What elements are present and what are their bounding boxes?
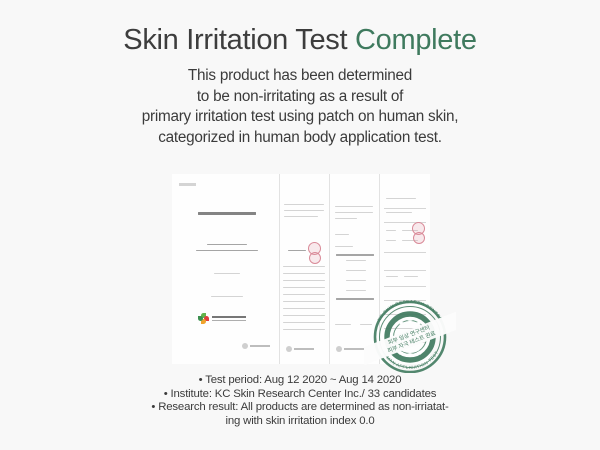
page-2-footer-logo [286,346,314,352]
bullet-item: • Test period: Aug 12 2020 ~ Aug 14 2020 [0,374,600,388]
page-3-date-4 [346,290,366,291]
page-1-date-line [211,296,243,297]
page-1-korean-title [198,212,256,215]
page-title-main: Skin Irritation Test [123,24,355,56]
institute-logo-text [212,316,246,322]
page-1-corner-mark [179,183,196,186]
intro-line-2: to be non-irritating as a result of [0,87,600,108]
page-title-accent: Complete [355,24,477,56]
page-1-subtitle-line-2 [196,250,258,251]
report-scan-images [172,174,430,364]
page-3-date-3 [346,280,366,281]
page-1-requester-line [214,273,240,274]
red-seal-stamp [309,252,321,264]
page-1-subtitle-line-1 [207,244,247,245]
page-3-date-1 [346,260,366,261]
page-3-date-2 [346,270,366,271]
bullet-text: Institute: KC Skin Research Center Inc./… [171,388,437,400]
bullet-item: • Research result: All products are dete… [0,401,600,415]
intro-line-4: categorized in human body application te… [0,128,600,149]
report-page-1 [172,174,280,364]
bullet-text: Research result: All products are determ… [158,401,448,413]
intro-paragraph: This product has been determined to be n… [0,66,600,148]
bullet-text: Test period: Aug 12 2020 ~ Aug 14 2020 [205,374,401,386]
page-title: Skin Irritation Test Complete [0,24,600,57]
bullet-marker: • [199,374,203,386]
bullet-marker: • [164,388,168,400]
pinwheel-logo-icon [198,313,209,324]
report-page-3 [330,174,380,364]
bullet-text-continuation: ing with skin irritation index 0.0 [0,415,600,429]
bullet-item: • Institute: KC Skin Research Center Inc… [0,388,600,402]
report-page-4 [380,174,430,364]
red-seal-stamp [413,232,425,244]
certificate-page: Skin Irritation Test Complete This produ… [0,0,600,450]
institute-logo [198,313,246,324]
page-3-footer-logo [336,346,364,352]
intro-line-3: primary irritation test using patch on h… [0,107,600,128]
report-page-2 [280,174,330,364]
page-1-footer-logo [242,343,270,349]
bullet-marker: • [151,401,155,413]
summary-bullet-list: • Test period: Aug 12 2020 ~ Aug 14 2020… [0,374,600,428]
intro-line-1: This product has been determined [0,66,600,87]
